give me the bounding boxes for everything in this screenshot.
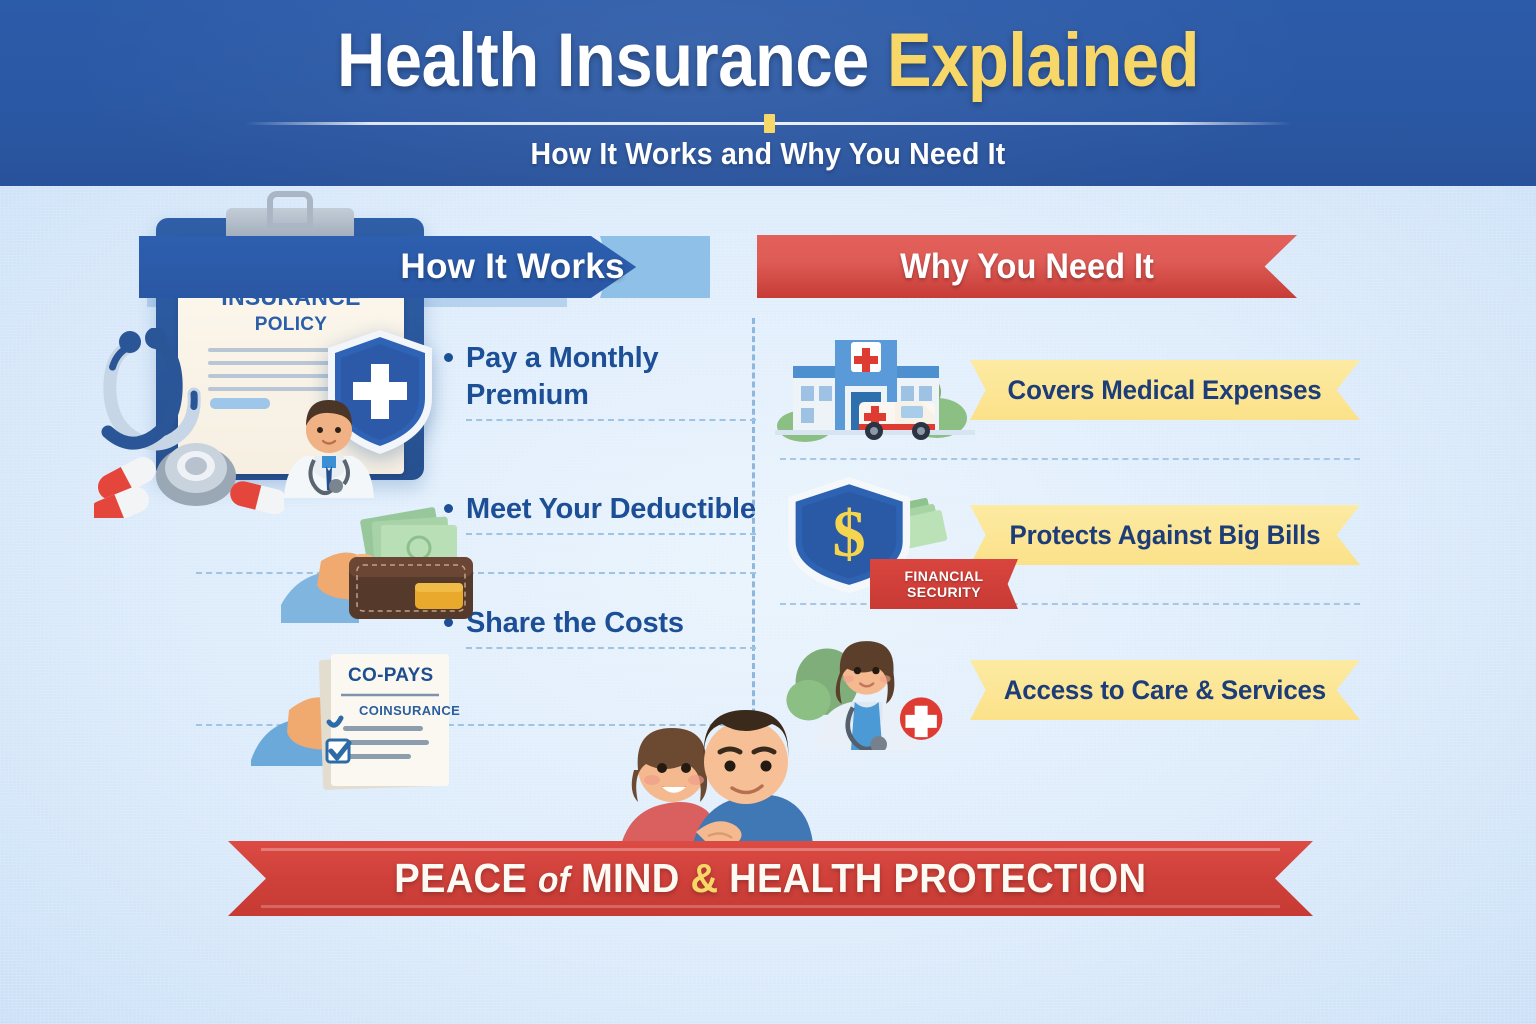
bullet-underline bbox=[466, 647, 756, 649]
list-item[interactable]: Meet Your Deductible bbox=[466, 491, 756, 535]
benefit-banner: Protects Against Big Bills bbox=[970, 505, 1360, 565]
page-subtitle: How It Works and Why You Need It bbox=[61, 136, 1474, 172]
benefit-banner: Covers Medical Expenses bbox=[970, 360, 1360, 420]
list-item[interactable]: Pay a Monthly Premium bbox=[466, 340, 756, 421]
list-item[interactable]: Covers Medical Expenses bbox=[770, 330, 1370, 460]
footer-banner: PEACE of MIND & HEALTH PROTECTION bbox=[228, 841, 1313, 916]
list-item[interactable]: Share the Costs bbox=[466, 605, 756, 649]
hospital-ambulance-icon bbox=[775, 330, 975, 450]
bullet-label: Meet Your Deductible bbox=[466, 491, 756, 528]
why-you-need-it-ribbon: Why You Need It bbox=[776, 235, 1278, 298]
stethoscope-pills-icon bbox=[94, 328, 284, 518]
list-item[interactable]: Access to Care & Services bbox=[770, 630, 1370, 760]
bullet-label: Share the Costs bbox=[466, 605, 756, 642]
why-you-need-it-column: Covers Medical Expenses $ bbox=[770, 330, 1370, 790]
bullet-label: Pay a Monthly Premium bbox=[466, 340, 756, 414]
how-it-works-ribbon: How It Works bbox=[139, 236, 664, 298]
list-separator bbox=[780, 603, 1360, 605]
svg-text:$: $ bbox=[833, 498, 866, 571]
page-title: Health Insurance Explained bbox=[92, 16, 1444, 106]
bullet-underline bbox=[466, 533, 756, 535]
footer-text-part2: MIND bbox=[581, 855, 680, 901]
benefit-label: Protects Against Big Bills bbox=[1010, 520, 1321, 551]
why-you-need-it-ribbon-label: Why You Need It bbox=[900, 247, 1154, 287]
title-main: Health Insurance bbox=[337, 18, 869, 103]
benefit-banner: Access to Care & Services bbox=[970, 660, 1360, 720]
footer-text-of: of bbox=[538, 859, 570, 900]
list-separator bbox=[780, 458, 1360, 460]
copays-label-primary: CO-PAYS bbox=[348, 665, 434, 687]
bullet-dot-icon bbox=[444, 353, 453, 362]
financial-security-line2: SECURITY bbox=[907, 584, 981, 600]
list-item[interactable]: $ FINANCIAL SECURITY Protects Against Bi… bbox=[770, 475, 1370, 605]
copays-document-icon: CO-PAYS COINSURANCE bbox=[251, 640, 481, 805]
footer-text-part3: HEALTH PROTECTION bbox=[729, 855, 1146, 901]
footer-text: PEACE of MIND & HEALTH PROTECTION bbox=[395, 855, 1147, 902]
bullet-underline bbox=[466, 419, 756, 421]
doctor-avatar-icon bbox=[274, 386, 384, 498]
how-it-works-list: Pay a Monthly Premium Meet Your Deductib… bbox=[466, 340, 756, 657]
how-it-works-ribbon-label: How It Works bbox=[400, 247, 624, 287]
financial-security-line1: FINANCIAL bbox=[904, 568, 983, 584]
copays-label-secondary: COINSURANCE bbox=[359, 703, 460, 718]
benefit-label: Access to Care & Services bbox=[1004, 675, 1326, 706]
footer-text-part1: PEACE bbox=[395, 855, 528, 901]
benefit-label: Covers Medical Expenses bbox=[1008, 375, 1322, 406]
wallet-cash-icon bbox=[281, 495, 496, 630]
header-banner: Health Insurance Explained How It Works … bbox=[0, 0, 1536, 186]
financial-security-badge: FINANCIAL SECURITY bbox=[870, 559, 1018, 609]
title-divider-dot bbox=[764, 114, 775, 133]
footer-text-amp: & bbox=[691, 855, 719, 901]
title-accent: Explained bbox=[887, 18, 1199, 103]
family-illustration-icon bbox=[600, 690, 850, 860]
infographic-poster: Health Insurance Explained How It Works … bbox=[0, 0, 1536, 1024]
